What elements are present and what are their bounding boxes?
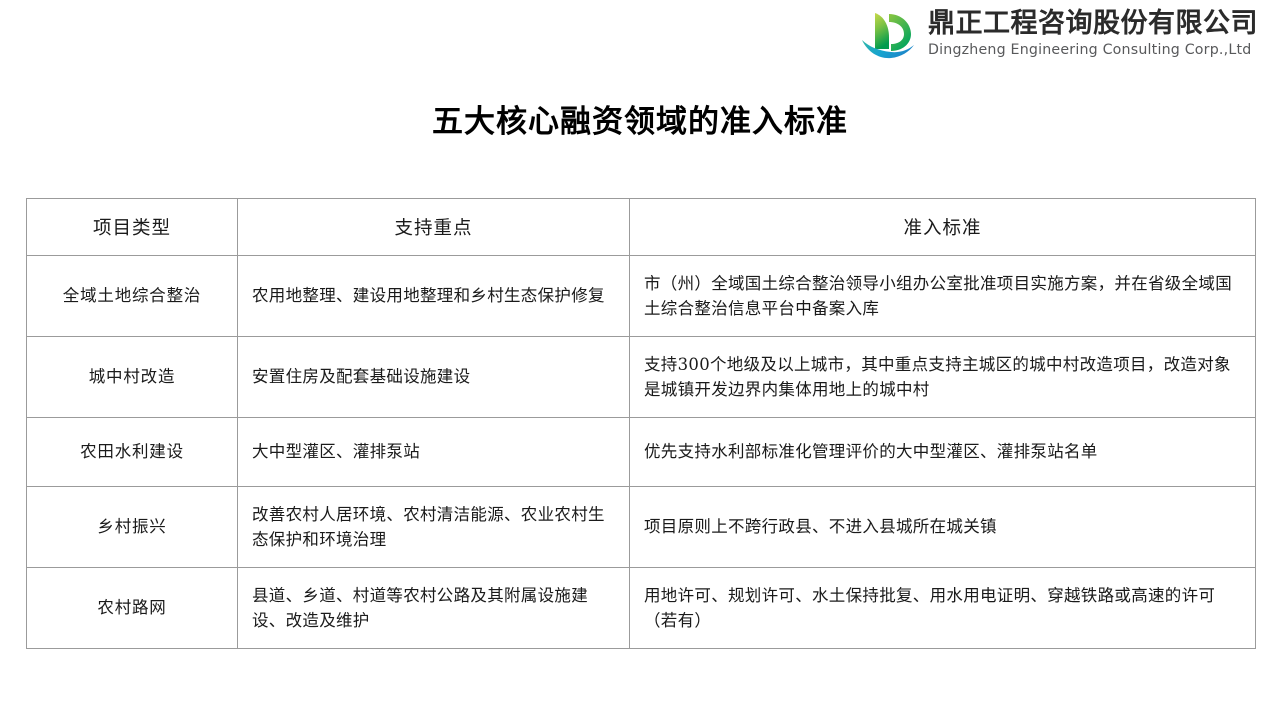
table-row: 城中村改造 安置住房及配套基础设施建设 支持300个地级及以上城市，其中重点支持… xyxy=(27,337,1256,418)
brand-name-cn: 鼎正工程咨询股份有限公司 xyxy=(928,10,1258,37)
criteria-table-wrapper: 项目类型 支持重点 准入标准 全域土地综合整治 农用地整理、建设用地整理和乡村生… xyxy=(26,198,1255,649)
table-header-row: 项目类型 支持重点 准入标准 xyxy=(27,199,1256,256)
criteria-table: 项目类型 支持重点 准入标准 全域土地综合整治 农用地整理、建设用地整理和乡村生… xyxy=(26,198,1256,649)
cell-entry-criteria: 用地许可、规划许可、水土保持批复、用水用电证明、穿越铁路或高速的许可（若有） xyxy=(630,568,1256,649)
cell-support-focus: 安置住房及配套基础设施建设 xyxy=(238,337,630,418)
cell-entry-criteria: 优先支持水利部标准化管理评价的大中型灌区、灌排泵站名单 xyxy=(630,418,1256,487)
brand-header: 鼎正工程咨询股份有限公司 Dingzheng Engineering Consu… xyxy=(858,6,1258,62)
page-title: 五大核心融资领域的准入标准 xyxy=(0,96,1280,141)
cell-project-type: 乡村振兴 xyxy=(27,487,238,568)
table-body: 全域土地综合整治 农用地整理、建设用地整理和乡村生态保护修复 市（州）全域国土综… xyxy=(27,256,1256,649)
cell-project-type: 农村路网 xyxy=(27,568,238,649)
cell-support-focus: 改善农村人居环境、农村清洁能源、农业农村生态保护和环境治理 xyxy=(238,487,630,568)
cell-entry-criteria: 市（州）全域国土综合整治领导小组办公室批准项目实施方案，并在省级全域国土综合整治… xyxy=(630,256,1256,337)
cell-support-focus: 农用地整理、建设用地整理和乡村生态保护修复 xyxy=(238,256,630,337)
dingzheng-d-logo-icon xyxy=(858,6,918,62)
column-header-project-type: 项目类型 xyxy=(27,199,238,256)
cell-support-focus: 县道、乡道、村道等农村公路及其附属设施建设、改造及维护 xyxy=(238,568,630,649)
table-row: 乡村振兴 改善农村人居环境、农村清洁能源、农业农村生态保护和环境治理 项目原则上… xyxy=(27,487,1256,568)
table-row: 农田水利建设 大中型灌区、灌排泵站 优先支持水利部标准化管理评价的大中型灌区、灌… xyxy=(27,418,1256,487)
table-row: 全域土地综合整治 农用地整理、建设用地整理和乡村生态保护修复 市（州）全域国土综… xyxy=(27,256,1256,337)
cell-entry-criteria: 项目原则上不跨行政县、不进入县城所在城关镇 xyxy=(630,487,1256,568)
cell-project-type: 农田水利建设 xyxy=(27,418,238,487)
table-row: 农村路网 县道、乡道、村道等农村公路及其附属设施建设、改造及维护 用地许可、规划… xyxy=(27,568,1256,649)
brand-name-en: Dingzheng Engineering Consulting Corp.,L… xyxy=(928,43,1258,57)
cell-support-focus: 大中型灌区、灌排泵站 xyxy=(238,418,630,487)
cell-project-type: 全域土地综合整治 xyxy=(27,256,238,337)
cell-project-type: 城中村改造 xyxy=(27,337,238,418)
column-header-support-focus: 支持重点 xyxy=(238,199,630,256)
column-header-entry-criteria: 准入标准 xyxy=(630,199,1256,256)
table-head: 项目类型 支持重点 准入标准 xyxy=(27,199,1256,256)
cell-entry-criteria: 支持300个地级及以上城市，其中重点支持主城区的城中村改造项目，改造对象是城镇开… xyxy=(630,337,1256,418)
brand-text-block: 鼎正工程咨询股份有限公司 Dingzheng Engineering Consu… xyxy=(928,10,1258,57)
